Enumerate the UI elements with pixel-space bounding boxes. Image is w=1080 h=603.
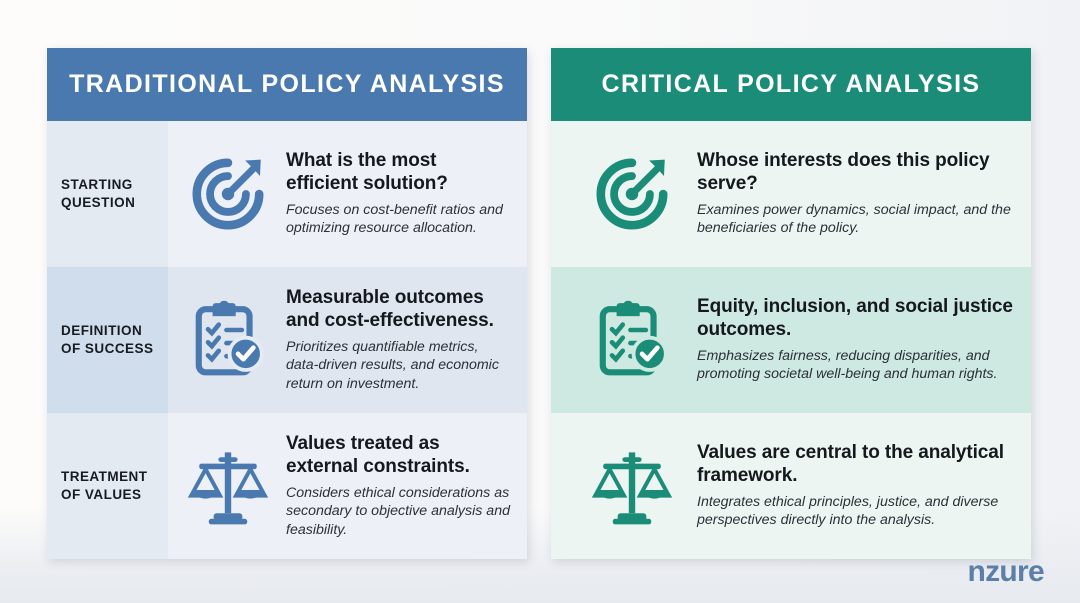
row-title: Whose interests does this policy serve? (697, 150, 1017, 196)
row-description: Considers ethical considerations as seco… (286, 484, 513, 539)
traditional-card-header: TRADITIONAL POLICY ANALYSIS (47, 48, 527, 121)
row-text: Whose interests does this policy serve? … (697, 150, 1017, 238)
table-row: DEFINITION OF SUCCESS (47, 267, 527, 413)
target-arrow-icon (573, 155, 691, 233)
target-arrow-icon (176, 155, 280, 233)
row-description: Prioritizes quantifiable metrics, data-d… (286, 338, 513, 393)
traditional-rows: STARTING QUESTION (47, 121, 527, 559)
row-description: Focuses on cost-benefit ratios and optim… (286, 201, 513, 238)
table-row: Whose interests does this policy serve? … (551, 121, 1031, 267)
infographic-canvas: TRADITIONAL POLICY ANALYSIS STARTING QUE… (0, 0, 1080, 603)
row-title: What is the most efficient solution? (286, 150, 513, 196)
row-text: Measurable outcomes and cost-effectivene… (286, 287, 513, 393)
critical-card-header: CRITICAL POLICY ANALYSIS (551, 48, 1031, 121)
row-title: Values are central to the analytical fra… (697, 442, 1017, 488)
critical-policy-card: CRITICAL POLICY ANALYSIS (551, 48, 1031, 559)
row-body: Measurable outcomes and cost-effectivene… (168, 267, 527, 413)
row-body: Whose interests does this policy serve? … (551, 121, 1031, 267)
traditional-policy-card: TRADITIONAL POLICY ANALYSIS STARTING QUE… (47, 48, 527, 559)
row-label-starting-question: STARTING QUESTION (47, 121, 168, 267)
balance-scales-icon (573, 446, 691, 526)
table-row: TREATMENT OF VALUES (47, 413, 527, 559)
row-body: Equity, inclusion, and social justice ou… (551, 267, 1031, 413)
row-description: Emphasizes fairness, reducing disparitie… (697, 347, 1017, 384)
row-text: Values are central to the analytical fra… (697, 442, 1017, 530)
row-text: Values treated as external constraints. … (286, 433, 513, 539)
row-text: What is the most efficient solution? Foc… (286, 150, 513, 238)
table-row: STARTING QUESTION (47, 121, 527, 267)
row-body: What is the most efficient solution? Foc… (168, 121, 527, 267)
row-label-treatment-of-values: TREATMENT OF VALUES (47, 413, 168, 559)
row-text: Equity, inclusion, and social justice ou… (697, 296, 1017, 384)
balance-scales-icon (176, 446, 280, 526)
clipboard-checklist-icon (176, 300, 280, 380)
table-row: Values are central to the analytical fra… (551, 413, 1031, 559)
table-row: Equity, inclusion, and social justice ou… (551, 267, 1031, 413)
row-label-definition-of-success: DEFINITION OF SUCCESS (47, 267, 168, 413)
row-title: Measurable outcomes and cost-effectivene… (286, 287, 513, 333)
critical-rows: Whose interests does this policy serve? … (551, 121, 1031, 559)
nzure-logo: nzure (967, 557, 1044, 587)
row-body: Values treated as external constraints. … (168, 413, 527, 559)
clipboard-checklist-icon (573, 300, 691, 380)
row-title: Equity, inclusion, and social justice ou… (697, 296, 1017, 342)
row-description: Examines power dynamics, social impact, … (697, 201, 1017, 238)
row-description: Integrates ethical principles, justice, … (697, 493, 1017, 530)
row-title: Values treated as external constraints. (286, 433, 513, 479)
row-body: Values are central to the analytical fra… (551, 413, 1031, 559)
